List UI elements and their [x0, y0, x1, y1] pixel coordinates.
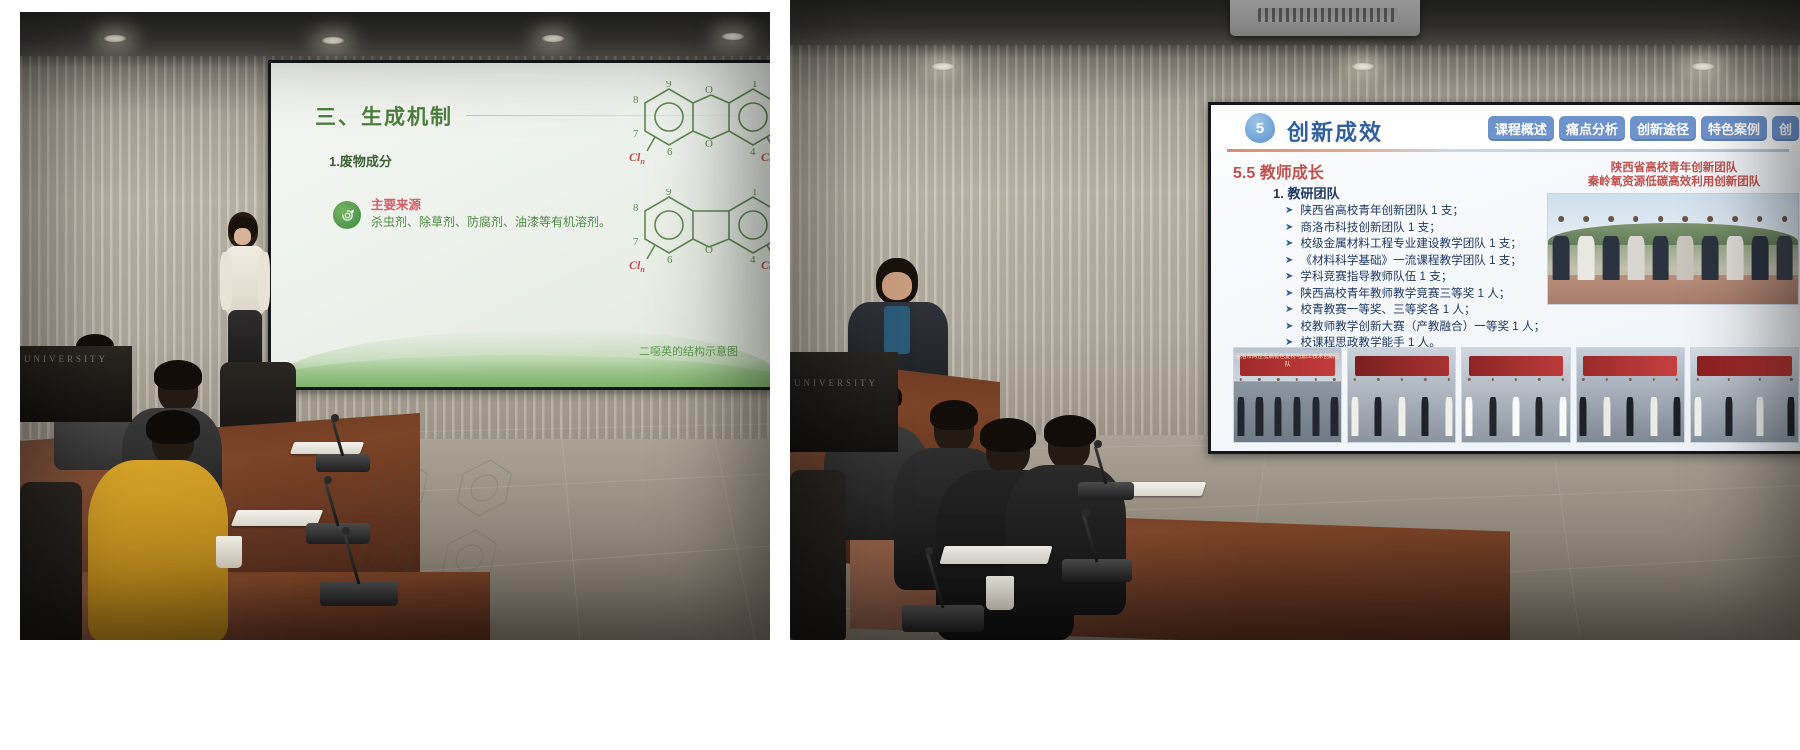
photo-person [1788, 378, 1795, 436]
photo-person [1351, 378, 1358, 436]
photo-person [1627, 216, 1644, 280]
ceiling [20, 12, 770, 56]
downlight-icon [1690, 62, 1716, 71]
source-label: 主要来源 [371, 194, 421, 213]
downlight-icon [930, 62, 956, 71]
downlight-icon [540, 34, 566, 43]
projection-screen: 5 创新成效 课程概述 痛点分析 创新途径 特色案例 创 5.5 教师成长 1.… [1208, 102, 1800, 454]
gooseneck-microphone [1078, 446, 1134, 500]
list-item-label: 校青教赛一等奖、三等奖各 1 人； [1300, 302, 1475, 319]
svg-text:O: O [705, 84, 713, 96]
photo-person [1751, 216, 1768, 280]
photo-person [1627, 378, 1634, 436]
photo-person [1489, 378, 1496, 436]
svg-text:1: 1 [752, 81, 758, 90]
svg-text:6: 6 [667, 254, 673, 266]
list-item-label: 商洛市科技创新团队 1 支； [1300, 220, 1440, 237]
source-text: 杀虫剂、除草剂、防腐剂、油漆等有机溶剂。 [371, 213, 611, 230]
header-underline [1227, 149, 1789, 152]
tab-featured-cases[interactable]: 特色案例 [1701, 116, 1767, 141]
photo-person [1580, 378, 1587, 436]
svg-text:9: 9 [666, 189, 672, 198]
slide-title: 三、生成机制 [315, 101, 453, 131]
photo-person [1312, 378, 1319, 436]
photo-person [1694, 378, 1701, 436]
svg-text:9: 9 [666, 81, 672, 90]
screenshot-root: 三、生成机制 1.废物成分 主要来源 杀虫剂、除草剂、防腐剂、油漆等有机溶剂。 [0, 0, 1800, 750]
projected-slide-right: 5 创新成效 课程概述 痛点分析 创新途径 特色案例 创 5.5 教师成长 1.… [1211, 105, 1800, 451]
photo-person [1725, 378, 1732, 436]
slide-tab-group: 课程概述 痛点分析 创新途径 特色案例 创 [1488, 116, 1799, 141]
photo-person [1375, 378, 1382, 436]
svg-text:6: 6 [667, 146, 673, 158]
audience-member-yellow [78, 412, 238, 640]
list-item-label: 校级金属材料工程专业建设教学团队 1 支； [1300, 236, 1522, 253]
subsection-heading: 1. 教研团队 [1273, 183, 1339, 202]
downlight-icon [720, 32, 746, 41]
photo-person [1727, 216, 1744, 280]
svg-text:O: O [705, 244, 713, 256]
thumbnail-caption: 商洛市两性低熵有色复材与加工技术创新区队 [1234, 352, 1341, 368]
photo-person [1559, 378, 1566, 436]
office-chair [790, 470, 846, 640]
svg-text:Clm: Clm [761, 150, 770, 166]
section-heading: 5.5 教师成长 [1233, 159, 1324, 183]
photo-person [1536, 378, 1543, 436]
paper-cup [986, 576, 1014, 610]
thumbnail-photo: 商洛市两性低熵有色复材与加工技术创新区队 [1233, 347, 1342, 443]
bottom-margin [0, 640, 1800, 750]
svg-text:Cln: Cln [629, 150, 645, 166]
photo-person [1702, 216, 1719, 280]
photo-person [1237, 378, 1244, 436]
slide-reflection [320, 452, 620, 612]
photo-person [1256, 378, 1263, 436]
arrow-bullet-icon: ➤ [1285, 319, 1293, 336]
section-number-badge: 5 [1245, 113, 1275, 143]
photo-person [1776, 216, 1793, 280]
arrow-bullet-icon: ➤ [1285, 203, 1293, 220]
photo-person [1466, 378, 1473, 436]
svg-text:8: 8 [633, 94, 639, 106]
photo-person [1445, 378, 1452, 436]
slide-subtitle: 1.废物成分 [329, 151, 392, 170]
photo-person [1652, 216, 1669, 280]
thumbnail-photo [1461, 347, 1570, 443]
arrow-bullet-icon: ➤ [1285, 302, 1293, 319]
right-presentation-photo: 5 创新成效 课程概述 痛点分析 创新途径 特色案例 创 5.5 教师成长 1.… [790, 0, 1800, 640]
logo-text: UNIVERSITY [794, 378, 894, 388]
tab-innovation-path[interactable]: 创新途径 [1630, 116, 1696, 141]
list-item-label: 陕西省高校青年创新团队 1 支； [1300, 203, 1464, 220]
photo-person [1398, 378, 1405, 436]
list-item-label: 陕西高校青年教师教学竞赛三等奖 1 人； [1300, 286, 1510, 303]
downlight-icon [102, 34, 128, 43]
photo-person [1603, 216, 1620, 280]
thumbnail-photo [1576, 347, 1685, 443]
gooseneck-microphone [902, 552, 984, 632]
thumbnail-strip: 商洛市两性低熵有色复材与加工技术创新区队 [1233, 347, 1799, 443]
downlight-icon [1350, 62, 1376, 71]
arrow-bullet-icon: ➤ [1285, 269, 1293, 286]
slide-canvas: 三、生成机制 1.废物成分 主要来源 杀虫剂、除草剂、防腐剂、油漆等有机溶剂。 [271, 63, 770, 387]
slide-canvas: 5 创新成效 课程概述 痛点分析 创新途径 特色案例 创 5.5 教师成长 1.… [1211, 105, 1800, 451]
projection-screen: 三、生成机制 1.废物成分 主要来源 杀虫剂、除草剂、防腐剂、油漆等有机溶剂。 [268, 60, 770, 390]
svg-text:7: 7 [633, 128, 639, 140]
badge-number: 5 [1245, 113, 1275, 143]
thumbnail-photo [1690, 347, 1799, 443]
svg-text:7: 7 [633, 236, 639, 248]
list-item-label: 校教师教学创新大赛（产教融合）一等奖 1 人； [1300, 319, 1545, 336]
list-item-label: 学科竞赛指导教师队伍 1 支； [1300, 269, 1452, 286]
furan-structure: 9876 1234 O Cln Clm [611, 189, 770, 299]
lectern [790, 352, 898, 452]
team-group-photo [1547, 193, 1799, 305]
svg-text:1: 1 [752, 189, 758, 198]
recycle-target-icon [333, 201, 361, 229]
tab-pain-points[interactable]: 痛点分析 [1559, 116, 1625, 141]
paper-cup [216, 536, 242, 568]
arrow-bullet-icon: ➤ [1285, 286, 1293, 303]
tab-course-overview[interactable]: 课程概述 [1488, 116, 1554, 141]
photo-person [1512, 378, 1519, 436]
tab-innovation-results[interactable]: 创 [1772, 116, 1799, 141]
photo-person [1674, 378, 1681, 436]
list-item: ➤校教师教学创新大赛（产教融合）一等奖 1 人； [1285, 319, 1615, 336]
photo-person [1293, 378, 1300, 436]
slide-title: 创新成效 [1287, 115, 1383, 147]
panel-gap [770, 0, 790, 750]
photo-person [1422, 378, 1429, 436]
svg-text:8: 8 [633, 202, 639, 214]
photo-person [1553, 216, 1570, 280]
group-photo-scene [1548, 194, 1798, 304]
arrow-bullet-icon: ➤ [1285, 220, 1293, 237]
arrow-bullet-icon: ➤ [1285, 236, 1293, 253]
office-chair [20, 482, 82, 640]
left-presentation-photo: 三、生成机制 1.废物成分 主要来源 杀虫剂、除草剂、防腐剂、油漆等有机溶剂。 [20, 12, 770, 640]
list-item-label: 《材料科学基础》一流课程教学团队 1 支； [1300, 253, 1522, 270]
photo-person [1757, 378, 1764, 436]
structure-caption: 二噁英的结构示意图 [639, 343, 738, 359]
svg-text:4: 4 [750, 254, 756, 266]
svg-text:4: 4 [750, 146, 756, 158]
downlight-icon [320, 36, 346, 45]
svg-text:O: O [705, 138, 713, 150]
projected-slide-left: 三、生成机制 1.废物成分 主要来源 杀虫剂、除草剂、防腐剂、油漆等有机溶剂。 [271, 63, 770, 387]
photo-person [1603, 378, 1610, 436]
photo-person [1275, 378, 1282, 436]
gooseneck-microphone [1062, 514, 1132, 582]
projector [1230, 0, 1420, 36]
photo-person [1650, 378, 1657, 436]
arrow-bullet-icon: ➤ [1285, 253, 1293, 270]
photo-person [1331, 378, 1338, 436]
team-photo-title: 陕西省高校青年创新团队 秦岭氧资源低碳高效利用创新团队 [1549, 161, 1799, 189]
logo-text: UNIVERSITY [24, 354, 128, 380]
photo-person [1677, 216, 1694, 280]
svg-text:Clm: Clm [761, 258, 770, 274]
dioxin-structure: 9876 1234 OO Cln Clm [611, 81, 770, 191]
photo-person [1578, 216, 1595, 280]
thumbnail-photo [1347, 347, 1456, 443]
svg-text:Cln: Cln [629, 258, 645, 274]
